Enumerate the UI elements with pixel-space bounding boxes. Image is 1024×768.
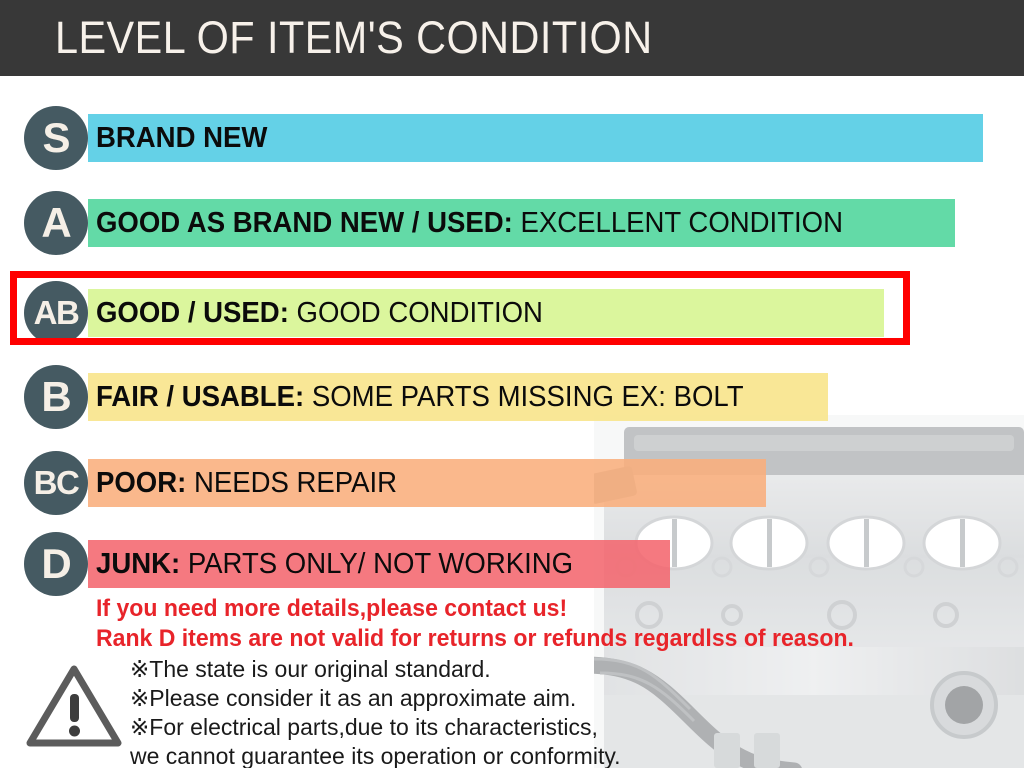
rank-text-b: FAIR / USABLE: SOME PARTS MISSING EX: BO…: [96, 365, 744, 429]
condition-grading-infographic: LEVEL OF ITEM'S CONDITION S BRAND NEW A …: [0, 0, 1024, 768]
footnote-line-1: ※The state is our original standard.: [130, 655, 621, 684]
rank-label-d: JUNK:: [96, 548, 180, 580]
footnotes: ※The state is our original standard. ※Pl…: [130, 655, 621, 768]
page-title: LEVEL OF ITEM'S CONDITION: [55, 13, 653, 63]
rank-label-s: BRAND NEW: [96, 122, 267, 154]
rank-text-bc: POOR: NEEDS REPAIR: [96, 451, 397, 515]
rank-desc-a: EXCELLENT CONDITION: [513, 207, 843, 239]
ab-row-highlight-box: [10, 271, 910, 345]
rank-desc-d: PARTS ONLY/ NOT WORKING: [180, 548, 573, 580]
notice-rank-d-no-returns: Rank D items are not valid for returns o…: [96, 624, 854, 654]
rank-label-a: GOOD AS BRAND NEW / USED:: [96, 207, 513, 239]
rank-badge-d: D: [24, 532, 88, 596]
rank-text-a: GOOD AS BRAND NEW / USED: EXCELLENT COND…: [96, 191, 843, 255]
warning-triangle-icon: [26, 662, 122, 748]
footnote-line-2: ※Please consider it as an approximate ai…: [130, 684, 621, 713]
footnote-line-3: ※For electrical parts,due to its charact…: [130, 713, 621, 742]
rank-badge-a: A: [24, 191, 88, 255]
rank-desc-bc: NEEDS REPAIR: [186, 467, 397, 499]
rank-badge-s: S: [24, 106, 88, 170]
rank-label-bc: POOR:: [96, 467, 186, 499]
footnote-line-4: we cannot guarantee its operation or con…: [130, 742, 621, 768]
rank-desc-b: SOME PARTS MISSING EX: BOLT: [304, 381, 743, 413]
notice-contact-us: If you need more details,please contact …: [96, 594, 567, 624]
rank-text-s: BRAND NEW: [96, 106, 267, 170]
rank-badge-b: B: [24, 365, 88, 429]
rank-text-d: JUNK: PARTS ONLY/ NOT WORKING: [96, 532, 573, 596]
rank-label-b: FAIR / USABLE:: [96, 381, 304, 413]
rank-badge-bc: BC: [24, 451, 88, 515]
